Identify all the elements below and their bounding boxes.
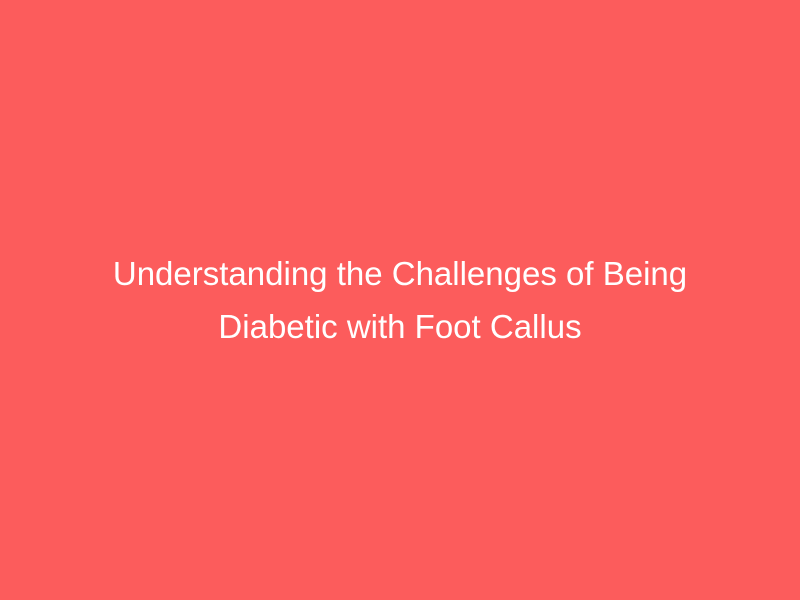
title-card: Understanding the Challenges of Being Di…	[0, 0, 800, 600]
page-title: Understanding the Challenges of Being Di…	[70, 247, 730, 353]
title-block: Understanding the Challenges of Being Di…	[50, 247, 750, 353]
